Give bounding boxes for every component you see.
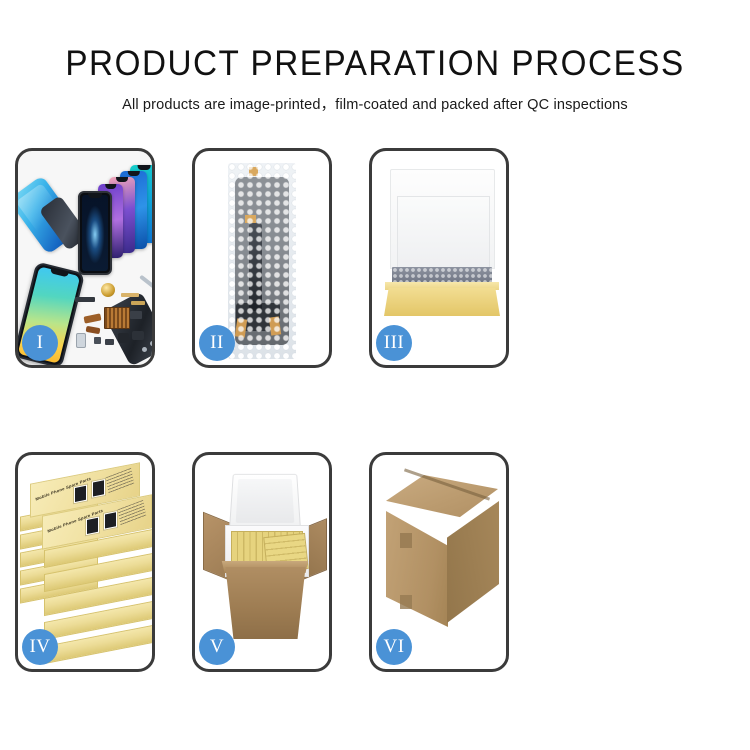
screw-2-icon <box>142 347 147 352</box>
box-label-product-image-2a <box>85 515 100 536</box>
process-step-card-1: I <box>15 148 155 368</box>
box-label-product-image-1b <box>91 478 106 499</box>
mailer-box-lid-inner-icon <box>397 196 490 270</box>
small-component-2-icon <box>105 339 114 345</box>
wrapped-flex-cable-icon <box>249 223 262 311</box>
box-label-product-image-1a <box>73 483 88 504</box>
sim-tray-icon <box>76 333 86 348</box>
mailer-box-lid-icon <box>390 169 495 269</box>
carton-tape-lower-icon <box>400 595 412 609</box>
process-step-card-5: V <box>192 452 332 672</box>
bubble-wrap-bag-icon <box>228 163 296 359</box>
step-badge-4: IV <box>22 629 58 665</box>
phone-black-front-icon <box>78 191 112 275</box>
flex-strip-icon <box>121 293 139 297</box>
page-subtitle: All products are image-printed，film-coat… <box>11 84 739 114</box>
step-badge-6: VI <box>376 629 412 665</box>
vibration-motor-icon <box>101 283 115 297</box>
spare-parts-cluster-icon <box>74 281 152 363</box>
page-header: PRODUCT PREPARATION PROCESS All products… <box>0 0 750 114</box>
step-badge-3: III <box>376 325 412 361</box>
sealed-carton-right-face-icon <box>447 501 499 623</box>
page-title: PRODUCT PREPARATION PROCESS <box>19 0 732 84</box>
flex-strip-2-icon <box>131 301 145 305</box>
earpiece-icon <box>132 331 144 340</box>
mailer-box-front-icon <box>384 288 500 316</box>
process-steps-grid: I II III <box>15 148 735 672</box>
tape-mark-2-icon <box>245 215 256 223</box>
step-badge-1: I <box>22 325 58 361</box>
camera-module-icon <box>118 333 129 343</box>
process-step-card-4: Mobile Phone Spare Parts Mobile Phone Sp… <box>15 452 155 672</box>
process-step-card-2: II <box>192 148 332 368</box>
flex-cable-2-icon <box>86 326 101 334</box>
step-badge-2: II <box>199 325 235 361</box>
styrofoam-lid-icon <box>229 474 301 529</box>
tape-mark-1-icon <box>249 167 258 176</box>
flex-cable-icon <box>83 313 101 323</box>
connector-icon <box>130 311 142 319</box>
step-badge-5: V <box>199 629 235 665</box>
speaker-bar-icon <box>75 297 95 302</box>
circuit-board-icon <box>104 307 130 329</box>
carton-body-icon <box>221 567 310 639</box>
screw-icon <box>150 341 152 346</box>
carton-tape-upper-icon <box>400 533 412 548</box>
sealed-carton-left-face-icon <box>386 511 448 627</box>
process-step-card-6: VI <box>369 452 509 672</box>
box-label-product-image-2b <box>103 510 118 531</box>
box-label-spec-lines-2 <box>118 500 147 527</box>
small-component-icon <box>94 337 101 344</box>
box-label-spec-lines-1 <box>106 468 135 495</box>
tweezers-icon <box>139 275 152 292</box>
phone-lineup-icon <box>76 165 152 275</box>
process-step-card-3: III <box>369 148 509 368</box>
